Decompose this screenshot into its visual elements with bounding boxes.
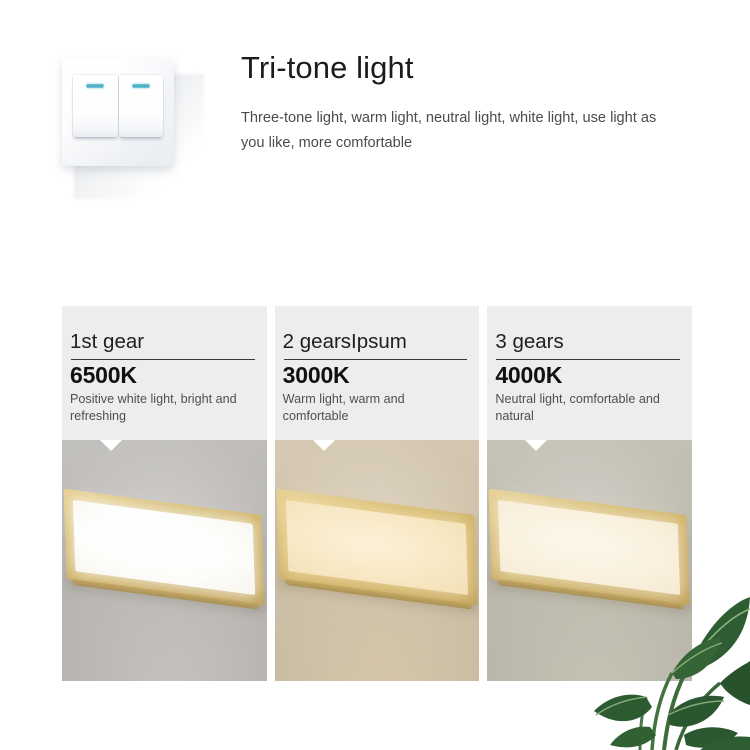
- switch-rocker-left[interactable]: [73, 75, 118, 137]
- kelvin-value: 4000K: [495, 362, 682, 389]
- kelvin-value: 6500K: [70, 362, 257, 389]
- divider: [284, 359, 468, 360]
- lamp-photo: [62, 440, 267, 681]
- wall-switch-illustration: [62, 58, 202, 193]
- gear-card-header: 2 gearsIpsum 3000K Warm light, warm and …: [275, 306, 480, 440]
- gear-label: 1st gear: [70, 330, 257, 354]
- gear-card: 2 gearsIpsum 3000K Warm light, warm and …: [275, 306, 480, 681]
- gear-card-header: 1st gear 6500K Positive white light, bri…: [62, 306, 267, 440]
- page-subtitle: Three-tone light, warm light, neutral li…: [241, 106, 681, 156]
- pointer-notch-icon: [100, 440, 122, 451]
- divider: [496, 359, 680, 360]
- pointer-notch-icon: [525, 440, 547, 451]
- indicator-led-icon: [87, 84, 104, 88]
- kelvin-value: 3000K: [283, 362, 470, 389]
- lamp-photo: [275, 440, 480, 681]
- switch-rocker-right[interactable]: [119, 75, 164, 137]
- page-title: Tri-tone light: [241, 50, 414, 86]
- hero-section: Tri-tone light Three-tone light, warm li…: [0, 0, 750, 265]
- gear-label: 3 gears: [495, 330, 682, 354]
- switch-rockers: [73, 75, 163, 137]
- gear-description: Neutral light, comfortable and natural: [495, 391, 682, 424]
- gear-label: 2 gearsIpsum: [283, 330, 470, 354]
- pointer-notch-icon: [313, 440, 335, 451]
- gear-description: Positive white light, bright and refresh…: [70, 391, 257, 424]
- gear-description: Warm light, warm and comfortable: [283, 391, 470, 424]
- indicator-led-icon: [132, 84, 149, 88]
- divider: [71, 359, 255, 360]
- gear-card-header: 3 gears 4000K Neutral light, comfortable…: [487, 306, 692, 440]
- lamp-diffuser: [286, 500, 468, 595]
- plant-decoration: [580, 575, 750, 750]
- lamp-diffuser: [73, 500, 255, 595]
- gear-card: 1st gear 6500K Positive white light, bri…: [62, 306, 267, 681]
